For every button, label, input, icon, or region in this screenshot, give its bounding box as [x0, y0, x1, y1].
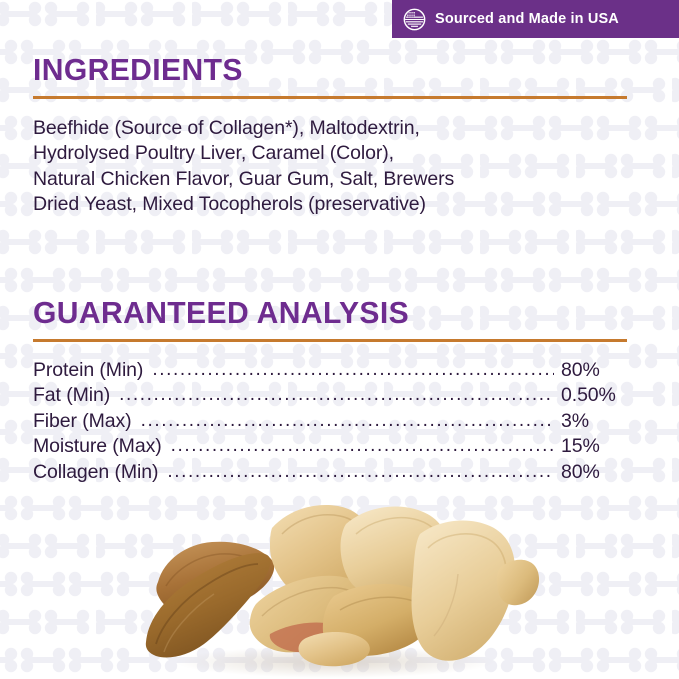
analysis-row-label: Moisture (Max) [33, 434, 162, 460]
ingredients-heading: INGREDIENTS [33, 54, 609, 87]
analysis-row-label: Collagen (Min) [33, 460, 158, 486]
analysis-row-value: 80% [561, 460, 627, 486]
analysis-row-label: Fiber (Max) [33, 409, 132, 435]
analysis-row-leader-dots [119, 382, 554, 408]
analysis-row-label: Protein (Min) [33, 358, 143, 384]
analysis-row-value: 15% [561, 434, 627, 460]
ingredients-heading-rule [33, 96, 627, 99]
guaranteed-analysis-section: GUARANTEED ANALYSIS Protein (Min)80%Fat … [33, 297, 627, 485]
analysis-row: Moisture (Max)15% [33, 434, 627, 460]
analysis-row: Fiber (Max)3% [33, 409, 627, 435]
badge-label: Sourced and Made in USA [435, 11, 619, 27]
usa-flag-circle-icon [403, 8, 426, 31]
analysis-row: Collagen (Min)80% [33, 460, 627, 486]
analysis-row-leader-dots [141, 408, 554, 434]
analysis-heading: GUARANTEED ANALYSIS [33, 297, 609, 330]
analysis-heading-rule [33, 339, 627, 342]
analysis-row-value: 80% [561, 358, 627, 384]
ingredients-body-text: Beefhide (Source of Collagen*), Maltodex… [33, 116, 627, 218]
beefhide-chips-pile-image [120, 486, 540, 679]
analysis-row: Fat (Min)0.50% [33, 383, 627, 409]
analysis-row-value: 3% [561, 409, 627, 435]
analysis-row: Protein (Min)80% [33, 358, 627, 384]
analysis-row-leader-dots [152, 357, 554, 383]
analysis-row-label: Fat (Min) [33, 383, 110, 409]
analysis-row-value: 0.50% [561, 383, 627, 409]
sourced-made-in-usa-badge: Sourced and Made in USA [392, 0, 679, 38]
analysis-row-leader-dots [167, 459, 554, 485]
analysis-row-leader-dots [171, 433, 554, 459]
ingredients-section: INGREDIENTS Beefhide (Source of Collagen… [33, 54, 627, 218]
analysis-rows: Protein (Min)80%Fat (Min)0.50%Fiber (Max… [33, 358, 627, 486]
